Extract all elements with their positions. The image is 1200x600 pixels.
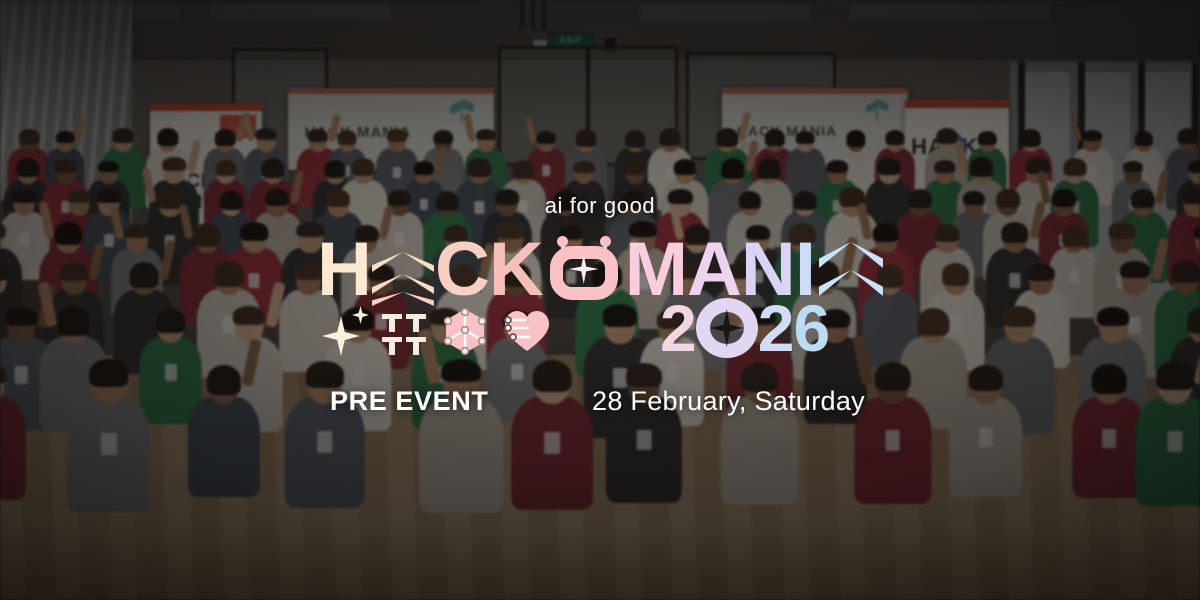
wordmark-letter-o-robot-icon (545, 234, 623, 304)
footer-row: PRE EVENT 28 February, Saturday (0, 386, 1200, 420)
year-digit-4: 6 (793, 296, 829, 360)
year-digit-1: 2 (660, 296, 696, 360)
year-digit-3: 2 (758, 296, 794, 360)
wordmark-letter-k: K (489, 234, 543, 306)
text-overlay: ai for good H C K M A N I (0, 0, 1200, 600)
star-icon (569, 254, 599, 284)
event-banner: EXIT HACK MANIA 2025 (0, 0, 1200, 600)
wordmark-letter-h: H (317, 234, 371, 306)
wordmark-hackomania: H C K M A N I (0, 234, 1200, 310)
event-stage-label: PRE EVENT (330, 386, 488, 417)
wordmark-letter-a-chevron (372, 234, 434, 306)
wordmark-letter-c: C (435, 234, 489, 306)
hexagon-network-icon (442, 306, 488, 356)
event-date-label: 28 February, Saturday (592, 386, 865, 417)
sparkle-icon (322, 306, 368, 356)
year-digit-0-with-star (696, 296, 758, 360)
heart-circuit-icon (502, 306, 548, 356)
it-blocks-icon (382, 306, 428, 356)
year-2026: 2 2 6 (660, 296, 829, 360)
tagline: ai for good (0, 193, 1200, 219)
icon-row (322, 306, 548, 356)
